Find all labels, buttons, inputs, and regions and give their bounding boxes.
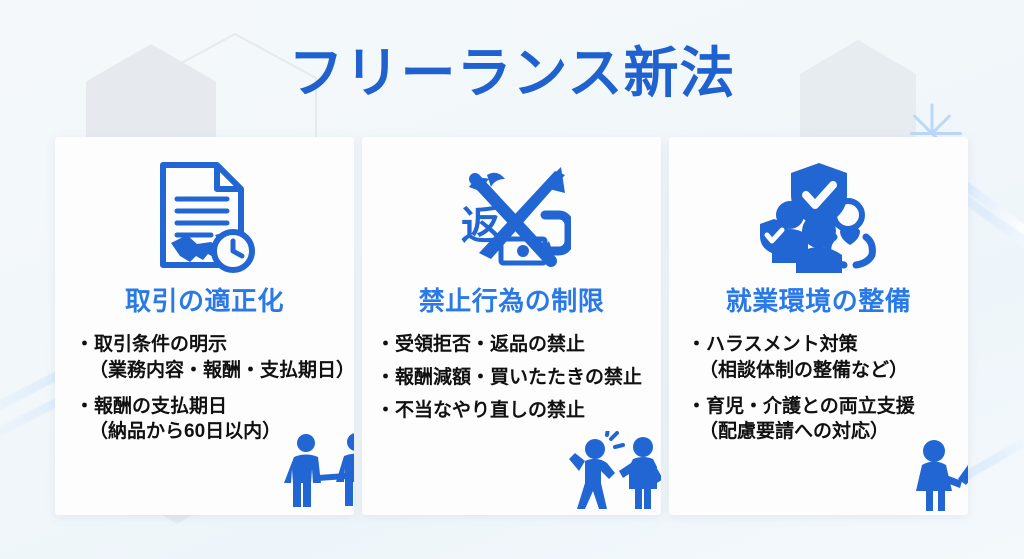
prohibited-return-payment-icon: 返 xyxy=(362,137,661,285)
list-item: ・取引条件の明示 （業務内容・報酬・支払期日） xyxy=(75,332,340,384)
bullet-line-1: ・不当なやり直しの禁止 xyxy=(376,398,647,424)
bullet-line-1: ・受領拒否・返品の禁止 xyxy=(376,332,647,358)
adult-helping-child-illustration xyxy=(896,431,968,511)
bullet-line-1: ・報酬減額・買いたたきの禁止 xyxy=(376,365,647,391)
card-heading: 就業環境の整備 xyxy=(669,281,968,318)
list-item: ・報酬減額・買いたたきの禁止 xyxy=(376,365,647,391)
harassment-two-people-illustration xyxy=(563,431,661,509)
two-businessmen-handshake-illustration xyxy=(276,431,354,509)
contract-handshake-clock-icon xyxy=(55,137,354,285)
bullet-line-2: （相談体制の整備など） xyxy=(687,358,954,384)
shield-people-heart-icon xyxy=(669,137,968,285)
card-row: 取引の適正化 ・取引条件の明示 （業務内容・報酬・支払期日） ・報酬の支払期日 … xyxy=(55,137,968,515)
bullet-line-1: ・育児・介護との両立支援 xyxy=(687,394,954,420)
bullet-line-2: （業務内容・報酬・支払期日） xyxy=(75,358,340,384)
page-title: フリーランス新法 xyxy=(0,28,1024,108)
infographic-canvas: フリーランス新法 xyxy=(0,0,1024,559)
bullet-line-1: ・報酬の支払期日 xyxy=(75,394,340,420)
card-heading: 禁止行為の制限 xyxy=(362,281,661,318)
card-bullet-list: ・取引条件の明示 （業務内容・報酬・支払期日） ・報酬の支払期日 （納品から60… xyxy=(55,332,354,445)
list-item: ・不当なやり直しの禁止 xyxy=(376,398,647,424)
card-prohibited-acts: 返 禁止行為の制限 xyxy=(362,137,661,515)
list-item: ・受領拒否・返品の禁止 xyxy=(376,332,647,358)
bullet-line-1: ・ハラスメント対策 xyxy=(687,332,954,358)
list-item: ・ハラスメント対策 （相談体制の整備など） xyxy=(687,332,954,384)
bullet-line-1: ・取引条件の明示 xyxy=(75,332,340,358)
card-transaction-fairness: 取引の適正化 ・取引条件の明示 （業務内容・報酬・支払期日） ・報酬の支払期日 … xyxy=(55,137,354,515)
card-bullet-list: ・ハラスメント対策 （相談体制の整備など） ・育児・介護との両立支援 （配慮要請… xyxy=(669,332,968,445)
card-bullet-list: ・受領拒否・返品の禁止 ・報酬減額・買いたたきの禁止 ・不当なやり直しの禁止 xyxy=(362,332,661,423)
card-heading: 取引の適正化 xyxy=(55,281,354,318)
card-work-environment: 就業環境の整備 ・ハラスメント対策 （相談体制の整備など） ・育児・介護との両立… xyxy=(669,137,968,515)
